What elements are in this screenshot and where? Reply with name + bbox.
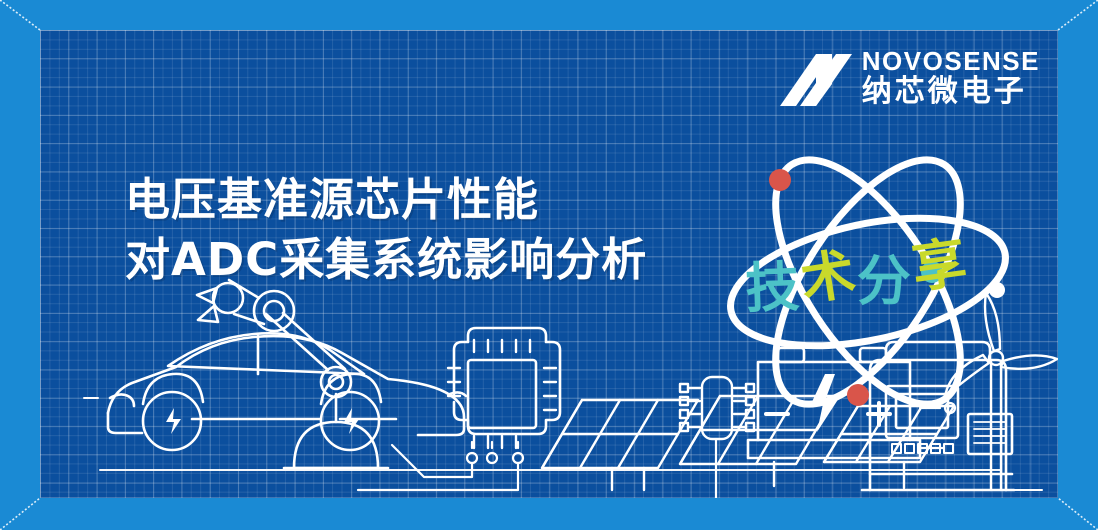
badge-char-2: 术: [794, 229, 862, 316]
brand-wordmark: NOVOSENSE 纳芯微电子: [862, 48, 1040, 107]
blueprint-panel: 电压基准源芯片性能 对ADC采集系统影响分析 技术分享 NOVOSENSE 纳芯…: [40, 30, 1058, 498]
brand-latin-name: NOVOSENSE: [862, 48, 1040, 74]
badge-char-1: 技: [744, 242, 803, 323]
badge-char-3: 分: [857, 237, 913, 316]
orbit-dot-white: [989, 282, 1005, 298]
orbit-dot-red-bottom: [847, 384, 869, 406]
badge-char-4: 享: [906, 217, 972, 303]
title-line-2: 对ADC采集系统影响分析: [125, 230, 647, 290]
page-title: 电压基准源芯片性能 对ADC采集系统影响分析: [125, 170, 647, 290]
brand-chinese-name: 纳芯微电子: [862, 77, 1040, 107]
orbit-dot-red-top: [769, 169, 791, 191]
microchip-icon: [358, 328, 560, 490]
brand-logo[interactable]: NOVOSENSE 纳芯微电子: [780, 48, 1040, 107]
novosense-n-mark: [780, 50, 852, 106]
title-line-1: 电压基准源芯片性能: [125, 170, 647, 230]
banner-canvas: 电压基准源芯片性能 对ADC采集系统影响分析 技术分享 NOVOSENSE 纳芯…: [0, 0, 1098, 530]
electric-car-icon: [84, 333, 466, 450]
